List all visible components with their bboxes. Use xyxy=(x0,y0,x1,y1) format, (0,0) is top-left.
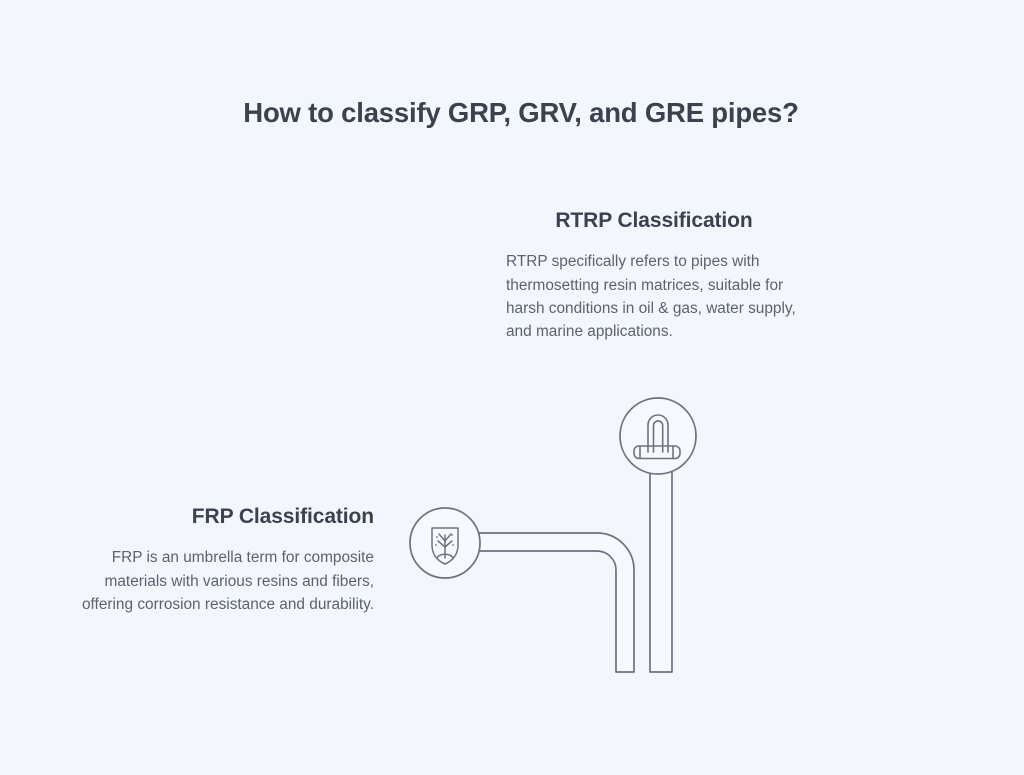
padlock-icon-circle xyxy=(620,398,696,474)
frp-description: FRP is an umbrella term for composite ma… xyxy=(72,546,374,616)
shield-fiber-icon xyxy=(432,528,458,564)
rtrp-heading: RTRP Classification xyxy=(502,208,806,233)
page-title: How to classify GRP, GRV, and GRE pipes? xyxy=(0,96,1024,130)
rtrp-classification-block: RTRP Classification RTRP specifically re… xyxy=(506,208,806,344)
rtrp-description: RTRP specifically refers to pipes with t… xyxy=(506,250,806,344)
frp-heading: FRP Classification xyxy=(72,504,374,529)
vertical-pipe xyxy=(650,430,672,672)
padlock-icon xyxy=(634,415,680,459)
shield-fiber-icon-circle xyxy=(410,508,480,578)
infographic-canvas: How to classify GRP, GRV, and GRE pipes? xyxy=(0,0,1024,775)
elbow-pipe xyxy=(455,533,634,672)
frp-classification-block: FRP Classification FRP is an umbrella te… xyxy=(72,504,374,616)
